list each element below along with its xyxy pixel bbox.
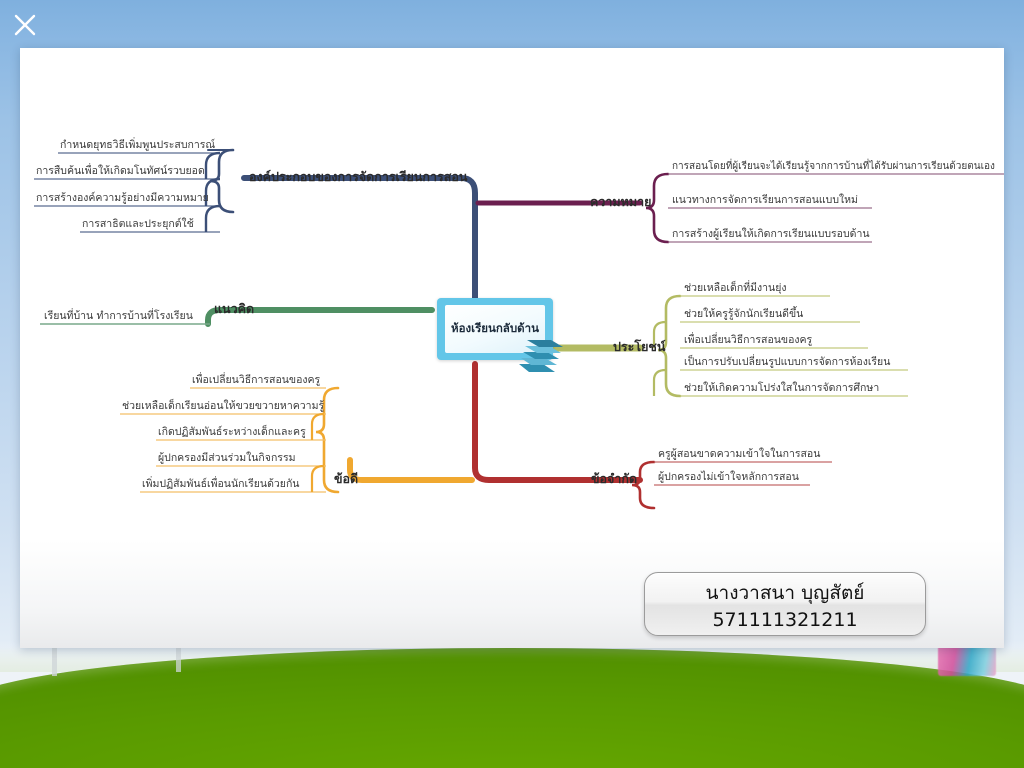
leaf-components-4[interactable]: การสาธิตและประยุกต์ใช้ [82, 219, 194, 231]
leaf-limitations-2[interactable]: ผู้ปกครองไม่เข้าใจหลักการสอน [658, 472, 799, 484]
leaf-benefits-5[interactable]: ช่วยให้เกิดความโปร่งใสในการจัดการศึกษา [684, 383, 879, 395]
leaf-concept-1[interactable]: เรียนที่บ้าน ทำการบ้านที่โรงเรียน [44, 311, 193, 323]
close-icon[interactable] [12, 12, 38, 38]
mind-map: ห้องเรียนกลับด้าน องค์ประกอบของการจัดการ… [20, 48, 1004, 648]
central-node[interactable]: ห้องเรียนกลับด้าน [437, 298, 553, 360]
author-student-id: 571111321211 [712, 609, 857, 631]
author-box: นางวาสนา บุญสัตย์ 571111321211 [644, 572, 926, 636]
leaf-advantages-3[interactable]: เกิดปฏิสัมพันธ์ระหว่างเด็กและครู [158, 427, 306, 439]
slide-panel: ห้องเรียนกลับด้าน องค์ประกอบของการจัดการ… [20, 48, 1004, 648]
leaf-advantages-1[interactable]: เพื่อเปลี่ยนวิธีการสอนของครู [192, 375, 320, 387]
leaf-advantages-4[interactable]: ผู้ปกครองมีส่วนร่วมในกิจกรรม [158, 453, 296, 465]
leaf-advantages-5[interactable]: เพิ่มปฏิสัมพันธ์เพื่อนนักเรียนด้วยกัน [142, 479, 299, 491]
leaf-benefits-2[interactable]: ช่วยให้ครูรู้จักนักเรียนดีขึ้น [684, 309, 803, 321]
branch-label-meaning[interactable]: ความหมาย [590, 195, 651, 209]
background-post-2 [176, 648, 181, 672]
leaf-meaning-1[interactable]: การสอนโดยที่ผู้เรียนจะได้เรียนรู้จากการบ… [672, 161, 995, 172]
branch-label-limitations[interactable]: ข้อจำกัด [591, 472, 637, 486]
background-post [52, 646, 57, 676]
branch-label-concept[interactable]: แนวคิด [214, 302, 254, 316]
branch-label-components[interactable]: องค์ประกอบของการจัดการเรียนการสอน [249, 170, 467, 184]
author-name: นางวาสนา บุญสัตย์ [706, 578, 865, 608]
branch-label-advantages[interactable]: ข้อดี [334, 472, 358, 486]
leaf-benefits-1[interactable]: ช่วยเหลือเด็กที่มีงานยุ่ง [684, 283, 787, 295]
leaf-limitations-1[interactable]: ครูผู้สอนขาดความเข้าใจในการสอน [658, 449, 820, 461]
leaf-benefits-3[interactable]: เพื่อเปลี่ยนวิธีการสอนของครู [684, 335, 812, 347]
leaf-components-2[interactable]: การสืบค้นเพื่อให้เกิดมโนทัศน์รวบยอด [36, 166, 205, 178]
branch-label-benefits[interactable]: ประโยชน์ [613, 340, 665, 354]
leaf-meaning-2[interactable]: แนวทางการจัดการเรียนการสอนแบบใหม่ [672, 195, 858, 207]
leaf-meaning-3[interactable]: การสร้างผู้เรียนให้เกิดการเรียนแบบรอบด้า… [672, 229, 870, 241]
background-grass [0, 648, 1024, 768]
leaf-components-3[interactable]: การสร้างองค์ความรู้อย่างมีความหมาย [36, 193, 209, 205]
leaf-benefits-4[interactable]: เป็นการปรับเปลี่ยนรูปแบบการจัดการห้องเรี… [684, 357, 890, 369]
leaf-components-1[interactable]: กำหนดยุทธวิธีเพิ่มพูนประสบการณ์ [60, 140, 215, 152]
slide-viewer: ห้องเรียนกลับด้าน องค์ประกอบของการจัดการ… [0, 0, 1024, 768]
leaf-advantages-2[interactable]: ช่วยเหลือเด็กเรียนอ่อนให้ขวยขวายหาความรู… [122, 401, 324, 413]
books-icon [515, 338, 567, 372]
